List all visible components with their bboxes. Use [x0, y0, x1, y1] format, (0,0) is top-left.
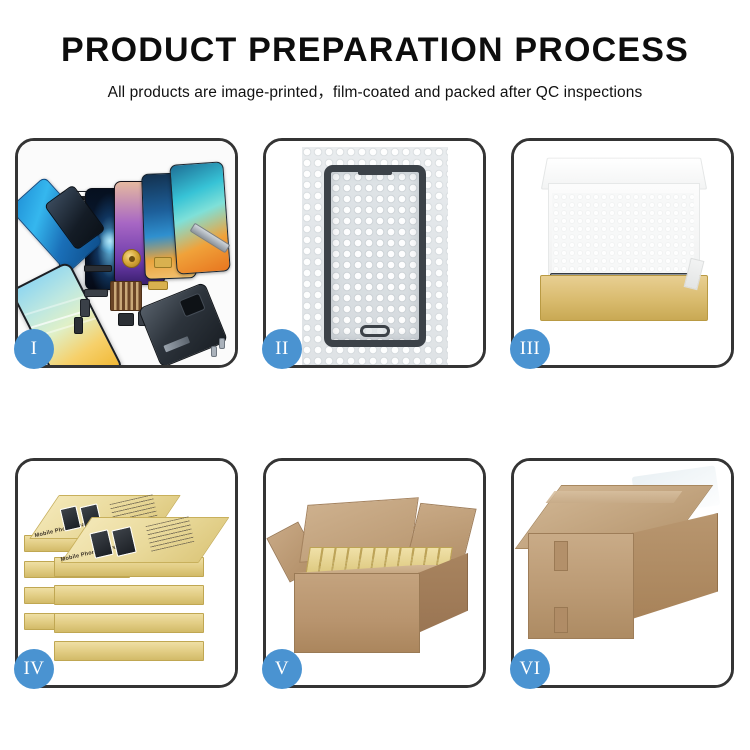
sealed-carton-seam: [546, 491, 683, 503]
part-chip-array: [110, 281, 142, 311]
page-header: PRODUCT PREPARATION PROCESS All products…: [0, 0, 750, 102]
step-badge-2: II: [262, 329, 302, 369]
step-6-image: [514, 461, 731, 685]
process-step-panel-2[interactable]: II: [263, 138, 486, 368]
retail-box-front-2: [54, 585, 204, 605]
part-screw-2: [211, 346, 217, 357]
carton-tape-upper: [554, 541, 568, 571]
step-badge-1: I: [14, 329, 54, 369]
carton-tape-lower: [554, 607, 568, 633]
carton-front-wall: [294, 573, 420, 653]
retail-box-front-3: [54, 613, 204, 633]
step-badge-6: VI: [510, 649, 550, 689]
wrapped-screen-assembly: [324, 165, 426, 347]
bubble-wrap-sheet: [302, 147, 448, 365]
page-subtitle: All products are image-printed，film-coat…: [0, 80, 750, 102]
step-badge-3: III: [510, 329, 550, 369]
step-4-image: Mobile Phone Spare Parts Mobile Phone Sp…: [18, 461, 235, 685]
phone-teal-display: [169, 161, 231, 274]
retail-box-front-4: [54, 641, 204, 661]
step-badge-4: IV: [14, 649, 54, 689]
part-flex-cable-4: [148, 281, 168, 290]
process-step-grid: I II III: [15, 138, 735, 688]
kraft-box-body: [540, 275, 708, 321]
sealed-carton-front: [528, 533, 634, 639]
process-step-panel-1[interactable]: I: [15, 138, 238, 368]
part-screw-1: [219, 338, 225, 349]
part-camera-module: [118, 313, 134, 326]
step-badge-5: V: [262, 649, 302, 689]
part-flex-cable-1: [154, 257, 172, 268]
step-2-image: [266, 141, 483, 365]
part-vibration-coil: [122, 249, 141, 268]
step-5-image: [266, 461, 483, 685]
process-step-panel-4[interactable]: Mobile Phone Spare Parts Mobile Phone Sp…: [15, 458, 238, 688]
foam-padding: [552, 193, 694, 277]
process-step-panel-6[interactable]: VI: [511, 458, 734, 688]
step-3-image: [514, 141, 731, 365]
home-button-cutout: [360, 325, 390, 337]
part-flex-cable-3: [80, 299, 90, 317]
part-sim-tray: [74, 317, 83, 334]
page-title: PRODUCT PREPARATION PROCESS: [0, 32, 750, 69]
step-1-image: [18, 141, 235, 365]
part-speaker-mesh: [84, 265, 112, 272]
process-step-panel-5[interactable]: V: [263, 458, 486, 688]
process-step-panel-3[interactable]: III: [511, 138, 734, 368]
part-flex-cable-2: [84, 289, 108, 297]
